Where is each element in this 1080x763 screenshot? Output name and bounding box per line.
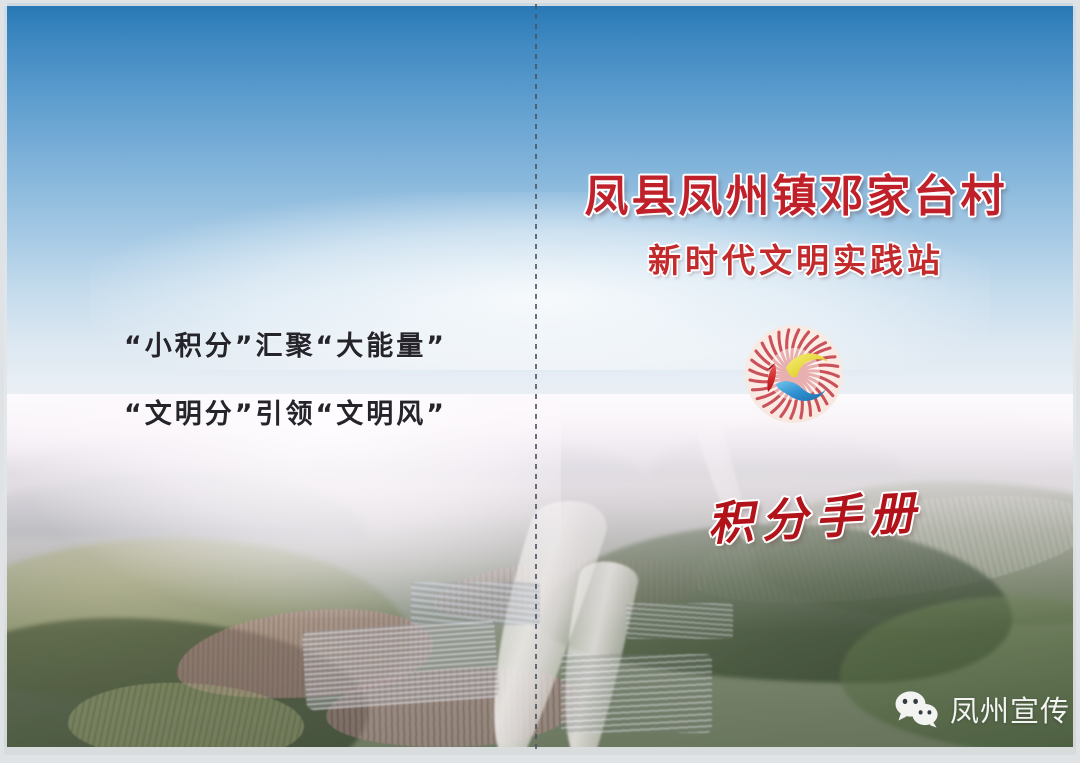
new-era-civilization-practice-station-emblem [742,322,846,426]
handbook-title: 积分手册 [688,475,941,555]
booklet-cover-spread: 凤县凤州镇邓家台村 新时代文明实践站 [0,0,1080,763]
wechat-account-name: 凤州宣传 [950,688,1070,730]
wechat-icon [893,689,941,729]
cover-content: 凤县凤州镇邓家台村 新时代文明实践站 [0,0,1080,763]
back-cover-slogan-2: “文明分”引领“文明风” [124,392,447,431]
cover-subtitle: 新时代文明实践站 [556,234,1036,282]
wechat-watermark: 凤州宣传 [893,688,1070,730]
cover-title: 凤县凤州镇邓家台村 [556,160,1036,224]
back-cover-slogan-1: “小积分”汇聚“大能量” [124,324,447,363]
